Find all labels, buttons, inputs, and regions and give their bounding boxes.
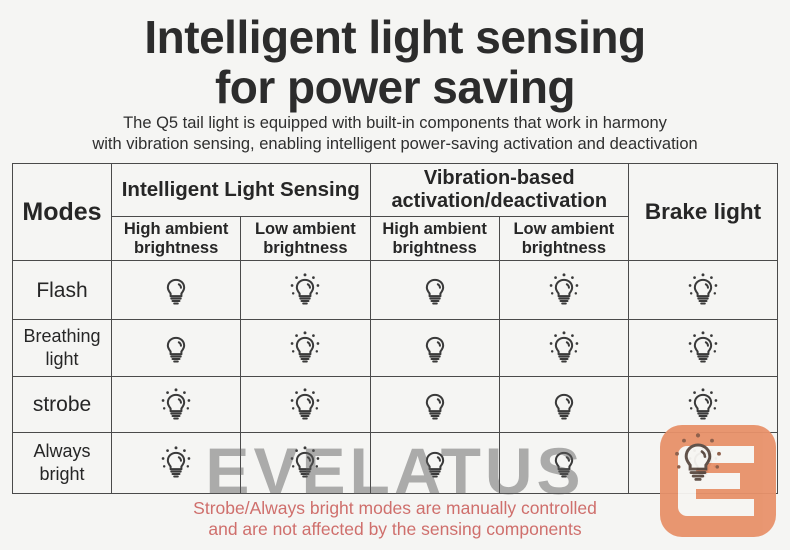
cell-flash-ils-low-on (241, 261, 370, 320)
cell-breathing-light-vib-low-on (499, 320, 628, 377)
row-label-flash: Flash (13, 261, 112, 320)
matrix-head-row-1: Modes Intelligent Light Sensing Vibratio… (13, 164, 778, 217)
header-group-vibration-line1: Vibration-based (424, 167, 575, 189)
lightbulb-on-icon (685, 270, 721, 310)
subheader-ils-low-line1: Low ambient (255, 220, 356, 238)
page-subtitle-line1: The Q5 tail light is equipped with built… (123, 114, 667, 132)
lightbulb-on-icon (685, 328, 721, 368)
cell-always-bright-vib-high-off (370, 433, 499, 494)
cell-strobe-vib-low-off (499, 377, 628, 433)
cell-strobe-ils-low-on (241, 377, 370, 433)
cell-always-bright-ils-low-on (241, 433, 370, 494)
footnote-line1: Strobe/Always bright modes are manually … (193, 498, 597, 518)
subheader-vib-low-ambient: Low ambient brightness (499, 217, 628, 261)
subheader-vib-high-line2: brightness (371, 239, 499, 258)
cell-always-bright-vib-low-off (499, 433, 628, 494)
lightbulb-off-icon (417, 270, 453, 310)
lightbulb-off-icon (158, 270, 194, 310)
row-label-line1: strobe (33, 393, 91, 416)
lightbulb-on-icon (287, 385, 323, 425)
row-label-line1: Always (33, 441, 90, 461)
lightbulb-off-icon (158, 328, 194, 368)
page-root: Intelligent light sensing for power savi… (0, 0, 790, 550)
cell-breathing-light-ils-low-on (241, 320, 370, 377)
page-title: Intelligent light sensing for power savi… (0, 12, 790, 112)
subheader-ils-high-line1: High ambient (124, 220, 229, 238)
subheader-ils-high-line2: brightness (112, 239, 240, 258)
page-title-line2: for power saving (0, 62, 790, 112)
cell-breathing-light-vib-high-off (370, 320, 499, 377)
subheader-ils-low-line2: brightness (241, 239, 369, 258)
cell-strobe-ils-high-on (112, 377, 241, 433)
subheader-vib-high-line1: High ambient (382, 220, 487, 238)
matrix-head: Modes Intelligent Light Sensing Vibratio… (13, 164, 778, 261)
cell-flash-brake-on (629, 261, 778, 320)
row-label-breathing-light: Breathinglight (13, 320, 112, 377)
subheader-vib-low-line1: Low ambient (513, 220, 614, 238)
lightbulb-on-icon (287, 328, 323, 368)
row-label-line2: bright (13, 463, 111, 486)
row-label-line1: Flash (36, 279, 87, 302)
table-row-breathing-light: Breathinglight (13, 320, 778, 377)
lightbulb-on-icon (287, 270, 323, 310)
lightbulb-off-icon (546, 385, 582, 425)
footnote-line2: and are not affected by the sensing comp… (208, 519, 581, 539)
lightbulb-on-icon (546, 270, 582, 310)
lightbulb-on-icon (158, 443, 194, 483)
subheader-ils-high-ambient: High ambient brightness (112, 217, 241, 261)
lightbulb-off-icon (417, 385, 453, 425)
cell-breathing-light-brake-on (629, 320, 778, 377)
header-group-vibration-based: Vibration-based activation/deactivation (370, 164, 629, 217)
page-title-line1: Intelligent light sensing (144, 11, 645, 63)
page-subtitle: The Q5 tail light is equipped with built… (0, 113, 790, 155)
logo-lightbulb-icon (670, 431, 726, 492)
header-group-vibration-line2: activation/deactivation (391, 190, 607, 212)
cell-flash-vib-low-on (499, 261, 628, 320)
subheader-vib-low-line2: brightness (500, 239, 628, 258)
lightbulb-on-icon (546, 328, 582, 368)
footnote: Strobe/Always bright modes are manually … (0, 498, 790, 540)
header-modes: Modes (13, 164, 112, 261)
subheader-vib-high-ambient: High ambient brightness (370, 217, 499, 261)
row-label-line1: Breathing (23, 326, 100, 346)
cell-always-bright-ils-high-on (112, 433, 241, 494)
row-label-line2: light (13, 348, 111, 371)
row-label-always-bright: Alwaysbright (13, 433, 112, 494)
lightbulb-off-icon (417, 443, 453, 483)
table-row-strobe: strobe (13, 377, 778, 433)
lightbulb-on-icon (685, 385, 721, 425)
header-brake-light: Brake light (629, 164, 778, 261)
subheader-ils-low-ambient: Low ambient brightness (241, 217, 370, 261)
lightbulb-off-icon (417, 328, 453, 368)
page-subtitle-line2: with vibration sensing, enabling intelli… (0, 134, 790, 155)
cell-flash-vib-high-off (370, 261, 499, 320)
lightbulb-on-icon (287, 443, 323, 483)
cell-strobe-vib-high-off (370, 377, 499, 433)
lightbulb-off-icon (546, 443, 582, 483)
cell-breathing-light-ils-high-off (112, 320, 241, 377)
table-row-flash: Flash (13, 261, 778, 320)
lightbulb-on-icon (158, 385, 194, 425)
header-group-intelligent-light-sensing: Intelligent Light Sensing (112, 164, 371, 217)
cell-flash-ils-high-off (112, 261, 241, 320)
row-label-strobe: strobe (13, 377, 112, 433)
